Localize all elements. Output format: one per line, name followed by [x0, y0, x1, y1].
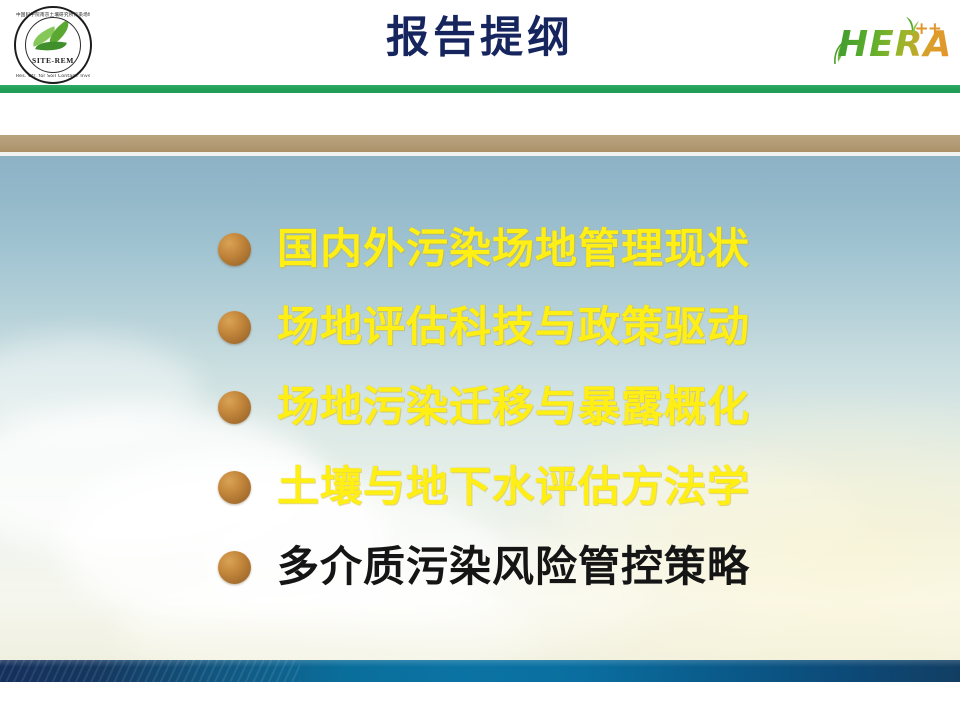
list-item[interactable]: 场地污染迁移与暴露概化: [218, 376, 750, 438]
list-item-label: 场地评估科技与政策驱动: [277, 304, 750, 350]
hera-logo: HERA ++: [830, 14, 942, 72]
slide: 中国科学院南京土壤研究所污染场地修复研究中心 SITE-REM Res. Ctr…: [0, 0, 960, 720]
header-divider: [0, 85, 960, 93]
slide-header: 中国科学院南京土壤研究所污染场地修复研究中心 SITE-REM Res. Ctr…: [0, 0, 960, 93]
hera-superscript: ++: [915, 19, 942, 39]
bullet-dot-icon: [218, 233, 251, 266]
list-item[interactable]: 土壤与地下水评估方法学: [218, 456, 750, 518]
page-title: 报告提纲: [0, 8, 960, 68]
bullet-dot-icon: [218, 311, 251, 344]
footer-bar-highlight: [0, 660, 960, 667]
seal-arc-bottom-text: Res. Ctr. for Soil Contam. Invest. & Rem…: [16, 74, 90, 79]
list-item-label: 国内外污染场地管理现状: [277, 226, 750, 272]
list-item-label: 多介质污染风险管控策略: [277, 544, 750, 590]
list-item[interactable]: 多介质污染风险管控策略: [218, 536, 750, 598]
bullet-dot-icon: [218, 551, 251, 584]
footer-accent-bar: [0, 660, 960, 682]
list-item[interactable]: 国内外污染场地管理现状: [218, 218, 750, 280]
bullet-dot-icon: [218, 471, 251, 504]
outline-list: 国内外污染场地管理现状 场地评估科技与政策驱动 场地污染迁移与暴露概化 土壤与地…: [0, 156, 960, 660]
footer-whitespace: [0, 682, 960, 720]
accent-band: [0, 135, 960, 152]
list-item-label: 土壤与地下水评估方法学: [277, 464, 750, 510]
bullet-dot-icon: [218, 391, 251, 424]
list-item-label: 场地污染迁移与暴露概化: [277, 384, 750, 430]
list-item[interactable]: 场地评估科技与政策驱动: [218, 296, 750, 358]
